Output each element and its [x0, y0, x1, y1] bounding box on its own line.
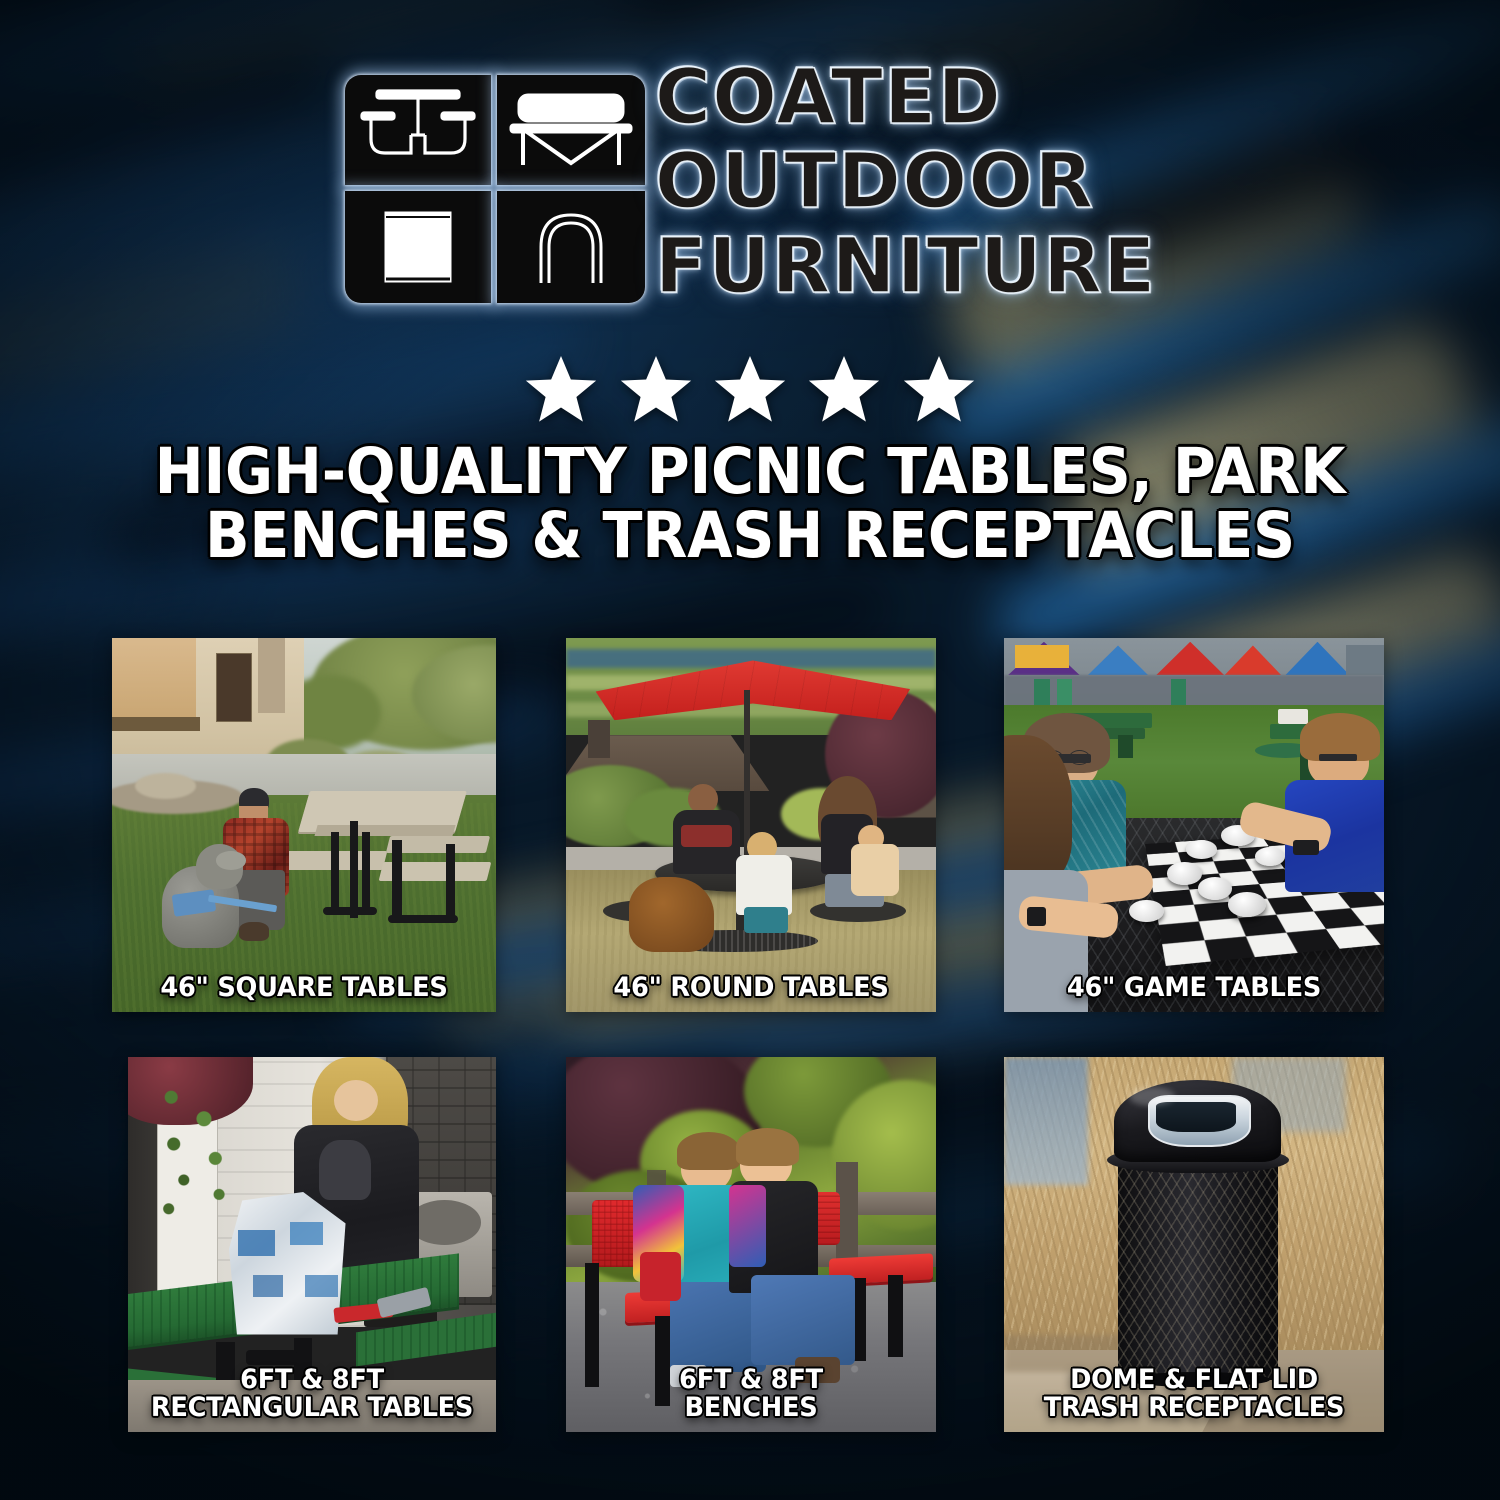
product-caption-square-tables: 46" SQUARE TABLES	[122, 974, 487, 1002]
product-photo-square-tables	[112, 638, 496, 1012]
product-tile-trash-receptacles[interactable]: DOME & FLAT LID TRASH RECEPTACLES	[1004, 1057, 1384, 1432]
promo-banner: COATED OUTDOOR FURNITURE HIGH-QUALITY PI…	[0, 0, 1500, 1500]
product-caption-round-tables: 46" ROUND TABLES	[575, 974, 927, 1002]
product-tile-round-tables[interactable]: 46" ROUND TABLES	[566, 638, 936, 1012]
product-photo-round-tables	[566, 638, 936, 1012]
product-photo-game-tables	[1004, 638, 1384, 1012]
product-caption-trash-receptacles: DOME & FLAT LID TRASH RECEPTACLES	[1014, 1366, 1375, 1422]
product-grid: 46" SQUARE TABLES	[0, 0, 1500, 1500]
product-caption-benches: 6FT & 8FT BENCHES	[575, 1366, 927, 1422]
product-tile-square-tables[interactable]: 46" SQUARE TABLES	[112, 638, 496, 1012]
product-tile-rectangular-tables[interactable]: 6FT & 8FT RECTANGULAR TABLES	[128, 1057, 496, 1432]
product-caption-game-tables: 46" GAME TABLES	[1014, 974, 1375, 1002]
product-tile-game-tables[interactable]: 46" GAME TABLES	[1004, 638, 1384, 1012]
product-tile-benches[interactable]: 6FT & 8FT BENCHES	[566, 1057, 936, 1432]
product-caption-rectangular-tables: 6FT & 8FT RECTANGULAR TABLES	[137, 1366, 487, 1422]
